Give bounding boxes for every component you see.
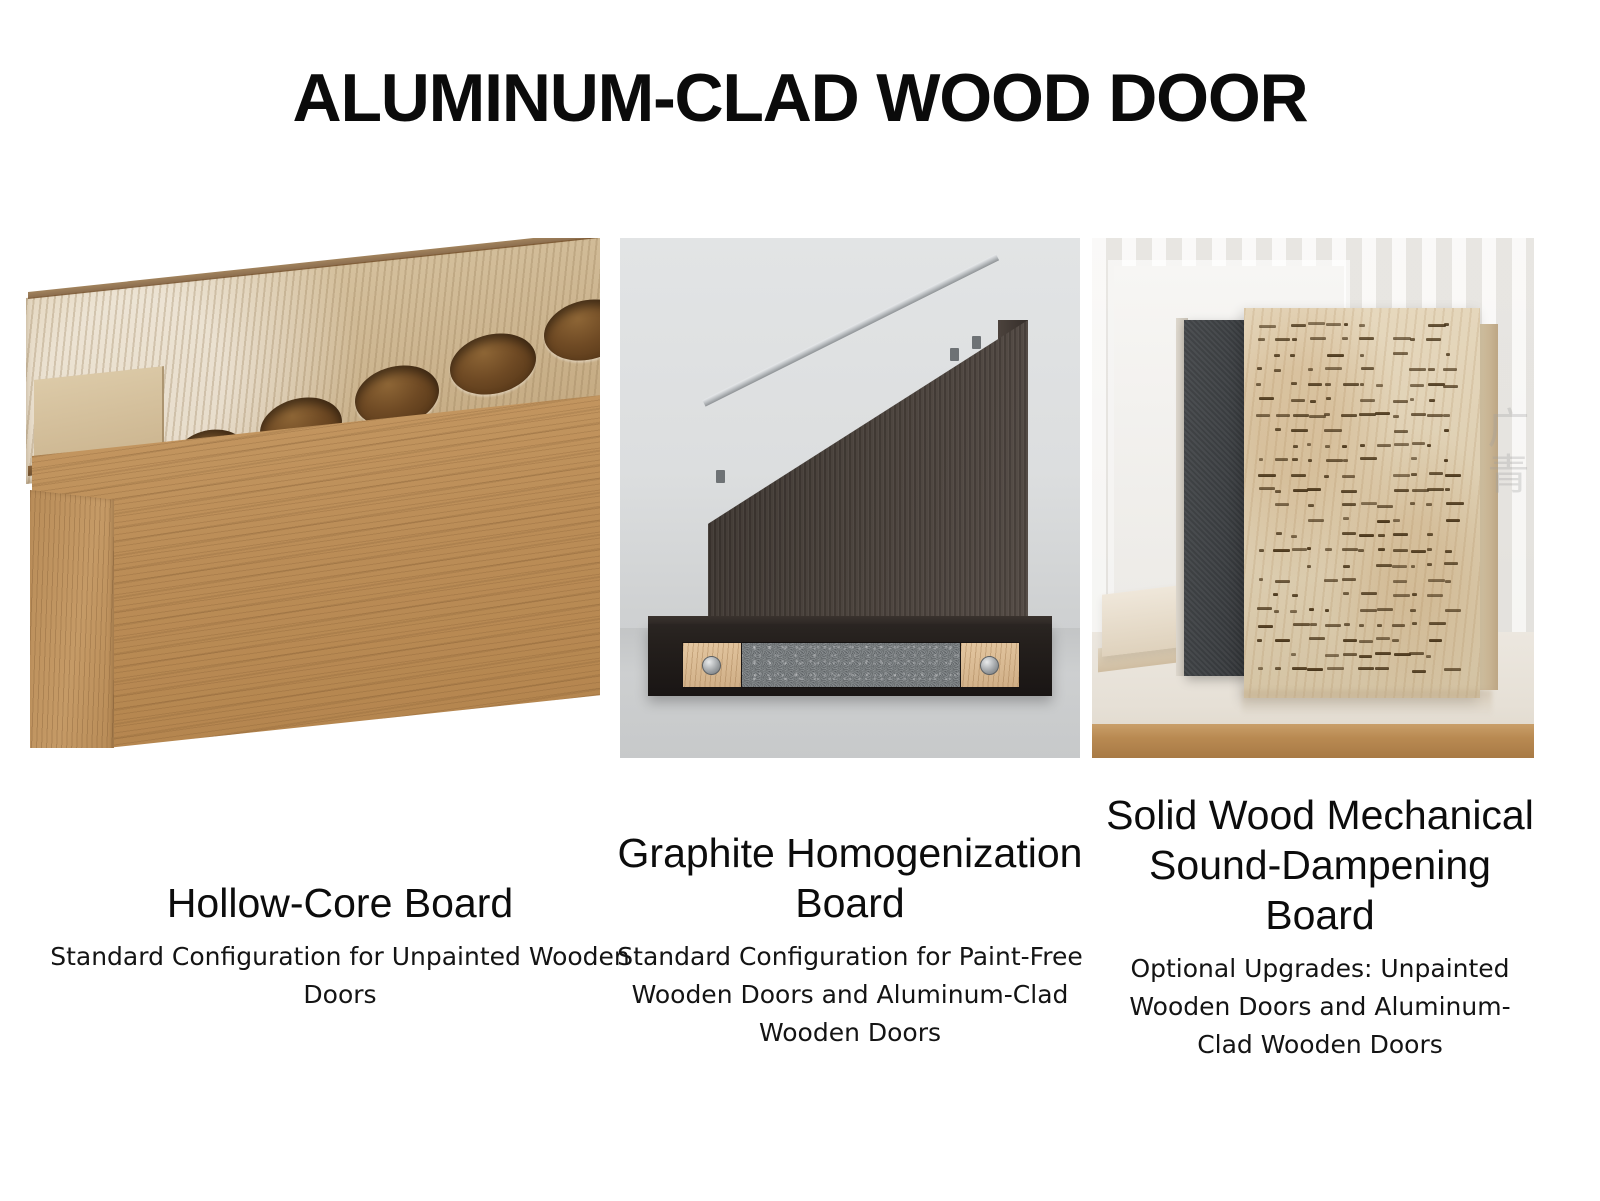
acoustic-slot: [1427, 548, 1432, 551]
slotted-solid-wood-panel: [1244, 308, 1480, 698]
acoustic-slot: [1411, 457, 1417, 460]
acoustic-slot: [1360, 354, 1364, 357]
acoustic-slot: [1411, 565, 1415, 568]
acoustic-slot: [1342, 475, 1355, 478]
acoustic-slot: [1310, 337, 1326, 340]
acoustic-slot: [1359, 640, 1373, 643]
acoustic-slot: [1276, 414, 1290, 417]
acoustic-slot: [1274, 610, 1279, 613]
acoustic-slot: [1308, 322, 1325, 325]
acoustic-slot: [1291, 399, 1305, 402]
acoustic-slot: [1361, 592, 1377, 595]
acoustic-slot: [1291, 535, 1297, 538]
acoustic-slot: [1341, 414, 1357, 417]
acoustic-slot: [1427, 488, 1444, 491]
acoustic-slot: [1257, 639, 1262, 642]
hollow-core-board-image: [22, 238, 600, 748]
acoustic-slot: [1409, 368, 1426, 371]
acoustic-slot: [1341, 490, 1357, 493]
aluminum-clip: [950, 348, 959, 361]
acoustic-slot: [1426, 503, 1432, 506]
acoustic-slot: [1308, 368, 1313, 371]
acoustic-slot: [1324, 475, 1329, 478]
acoustic-slot: [1342, 532, 1356, 535]
acoustic-slot: [1411, 473, 1417, 476]
acoustic-slot: [1258, 667, 1263, 670]
acoustic-slot: [1343, 383, 1359, 386]
acoustic-slot: [1445, 474, 1461, 477]
acoustic-slot: [1327, 354, 1344, 357]
acoustic-slot: [1343, 592, 1349, 595]
acoustic-slot: [1259, 549, 1264, 552]
acoustic-slot: [1291, 474, 1306, 477]
acoustic-slot: [1410, 398, 1414, 401]
acoustic-slot: [1429, 639, 1442, 642]
acoustic-slot: [1426, 655, 1431, 658]
acoustic-slot: [1310, 623, 1317, 626]
acoustic-slot: [1394, 430, 1408, 433]
acoustic-slot: [1392, 565, 1407, 568]
acoustic-slot: [1393, 400, 1408, 403]
acoustic-slot: [1446, 519, 1460, 522]
acoustic-slot: [1292, 548, 1307, 551]
acoustic-slot: [1426, 338, 1441, 341]
acoustic-slot: [1427, 414, 1443, 417]
acoustic-slot: [1293, 623, 1310, 626]
acoustic-slot: [1375, 667, 1389, 670]
acoustic-slot: [1256, 383, 1261, 386]
acoustic-slot: [1273, 593, 1278, 596]
acoustic-slot: [1326, 397, 1331, 400]
acoustic-slot: [1410, 502, 1415, 505]
acoustic-slot: [1445, 580, 1451, 583]
acoustic-slot: [1290, 610, 1297, 613]
acoustic-slot: [1358, 667, 1374, 670]
acoustic-slot: [1427, 444, 1431, 447]
acoustic-slot: [1443, 385, 1458, 388]
acoustic-slot: [1291, 653, 1296, 656]
aluminum-clip: [972, 336, 981, 349]
acoustic-slot: [1375, 652, 1391, 655]
acoustic-slot: [1292, 594, 1298, 597]
acoustic-slot: [1275, 490, 1281, 493]
wood-panel-side-edge: [1480, 324, 1498, 690]
acoustic-slot: [1343, 639, 1357, 642]
acoustic-slot: [1445, 609, 1461, 612]
caption-subtitle: Optional Upgrades: Unpainted Wooden Door…: [1105, 950, 1535, 1064]
acoustic-slot: [1393, 549, 1408, 552]
caption-row: Hollow-Core Board Standard Configuration…: [0, 790, 1600, 1130]
acoustic-slot: [1325, 383, 1331, 386]
acoustic-slot: [1429, 622, 1446, 625]
acoustic-slot: [1325, 367, 1342, 370]
acoustic-slot: [1273, 549, 1290, 552]
acoustic-slot: [1308, 383, 1322, 386]
acoustic-slot: [1361, 502, 1377, 505]
acoustic-slot: [1377, 505, 1393, 508]
acoustic-slot: [1344, 623, 1350, 626]
table-reflection: [1242, 690, 1492, 716]
acoustic-slot: [1429, 472, 1443, 475]
acoustic-slot: [1293, 414, 1309, 417]
acoustic-slot: [1360, 399, 1375, 402]
acoustic-slot: [1444, 429, 1449, 432]
acoustic-slot: [1307, 547, 1311, 550]
acoustic-slot: [1292, 667, 1307, 670]
acoustic-slot: [1393, 337, 1411, 340]
acoustic-slot: [1325, 445, 1330, 448]
acoustic-slot: [1392, 624, 1405, 627]
acoustic-slot: [1342, 503, 1356, 506]
acoustic-slot: [1443, 368, 1457, 371]
acoustic-slot: [1428, 368, 1435, 371]
acoustic-slot: [1427, 594, 1443, 597]
acoustic-slot: [1274, 354, 1280, 357]
acoustic-slot: [1412, 622, 1417, 625]
acoustic-slot: [1276, 532, 1282, 535]
caption-solid-wood-board: Solid Wood Mechanical Sound-Dampening Bo…: [1105, 790, 1535, 1064]
acoustic-slot: [1412, 442, 1425, 445]
acoustic-slot: [1444, 562, 1458, 565]
acoustic-slot: [1325, 548, 1332, 551]
acoustic-slot: [1376, 384, 1383, 387]
watermark-text: 广青: [1482, 406, 1528, 498]
acoustic-slot: [1361, 367, 1374, 370]
acoustic-slot: [1342, 548, 1358, 551]
acoustic-slot: [1324, 413, 1330, 416]
acoustic-slot: [1393, 594, 1410, 597]
acoustic-slot: [1412, 670, 1426, 673]
acoustic-slot: [1309, 608, 1314, 611]
acoustic-slot: [1443, 414, 1450, 417]
acoustic-slot: [1360, 457, 1377, 460]
acoustic-slot: [1275, 428, 1281, 431]
acoustic-slot: [1292, 458, 1298, 461]
acoustic-slot: [1308, 459, 1312, 462]
acoustic-slot: [1445, 550, 1452, 553]
acoustic-slot: [1393, 580, 1407, 583]
caption-title: Solid Wood Mechanical Sound-Dampening Bo…: [1105, 790, 1535, 940]
acoustic-slot: [1394, 489, 1409, 492]
acoustic-slot: [1410, 609, 1416, 612]
acoustic-slot: [1446, 353, 1450, 356]
acoustic-slot: [1259, 578, 1263, 581]
acoustic-slot: [1444, 459, 1448, 462]
acoustic-slot: [1275, 338, 1290, 341]
acoustic-slot: [1307, 668, 1323, 671]
product-image-row: 广青: [0, 238, 1600, 760]
acoustic-slot: [1259, 397, 1274, 400]
metal-pin: [702, 656, 721, 675]
acoustic-slot: [1256, 414, 1270, 417]
metal-pin: [980, 656, 999, 675]
acoustic-slot: [1259, 325, 1276, 328]
acoustic-slot: [1394, 443, 1409, 446]
acoustic-slot: [1429, 399, 1435, 402]
acoustic-slot: [1307, 565, 1311, 568]
acoustic-slot: [1327, 667, 1344, 670]
acoustic-slot: [1378, 548, 1385, 551]
acoustic-slot: [1360, 609, 1377, 612]
acoustic-slot: [1258, 625, 1273, 628]
acoustic-slot: [1377, 624, 1382, 627]
acoustic-slot: [1411, 550, 1426, 553]
acoustic-slot: [1274, 369, 1281, 372]
acoustic-slot: [1326, 459, 1343, 462]
wood-grain-side-face: [30, 490, 114, 748]
graphite-photo-stage: [620, 238, 1080, 758]
acoustic-slot: [1257, 607, 1272, 610]
acoustic-slot: [1324, 429, 1342, 432]
acoustic-slot: [1325, 654, 1339, 657]
acoustic-slot: [1410, 384, 1424, 387]
acoustic-slot: [1308, 504, 1314, 507]
acoustic-slot: [1307, 443, 1311, 446]
acoustic-slot: [1427, 563, 1432, 566]
caption-subtitle: Standard Configuration for Unpainted Woo…: [50, 938, 630, 1014]
acoustic-slot: [1393, 352, 1408, 355]
acoustic-slot: [1360, 383, 1364, 386]
acoustic-slot: [1375, 412, 1390, 415]
acoustic-slot: [1291, 429, 1308, 432]
acoustic-slot: [1359, 324, 1365, 327]
acoustic-slot: [1257, 367, 1262, 370]
acoustic-slot: [1359, 624, 1364, 627]
acoustic-slot: [1343, 653, 1357, 656]
acoustic-slot: [1393, 474, 1410, 477]
page-title: ALUMINUM-CLAD WOOD DOOR: [0, 58, 1600, 138]
acoustic-slot: [1360, 444, 1365, 447]
acoustic-slot: [1342, 578, 1356, 581]
acoustic-slot: [1326, 323, 1341, 326]
acoustic-slot: [1378, 534, 1385, 537]
acoustic-slot: [1275, 639, 1290, 642]
acoustic-slot: [1427, 533, 1433, 536]
acoustic-slot: [1411, 413, 1426, 416]
acoustic-slot: [1291, 324, 1306, 327]
caption-hollow-core-board: Hollow-Core Board Standard Configuration…: [50, 878, 630, 1014]
acoustic-slot: [1343, 517, 1349, 520]
acoustic-slot: [1293, 445, 1298, 448]
acoustic-slot: [1377, 520, 1390, 523]
acoustic-slot: [1376, 564, 1392, 567]
acoustic-slot: [1445, 488, 1450, 491]
graphite-homogenization-board-image: [620, 238, 1080, 758]
solid-wood-photo-stage: 广青: [1092, 238, 1534, 758]
acoustic-slot: [1359, 337, 1374, 340]
acoustic-slot: [1359, 655, 1372, 658]
acoustic-slot: [1377, 608, 1393, 611]
acoustic-slot: [1259, 487, 1275, 490]
caption-graphite-homogenization-board: Graphite Homogenization Board Standard C…: [600, 828, 1100, 1052]
acoustic-slot: [1308, 519, 1324, 522]
acoustic-slot: [1428, 579, 1445, 582]
acoustic-slot: [1444, 668, 1461, 671]
acoustic-slot: [1343, 565, 1350, 568]
acoustic-slot: [1275, 580, 1290, 583]
caption-title: Hollow-Core Board: [50, 878, 630, 928]
caption-title: Graphite Homogenization Board: [600, 828, 1100, 928]
acoustic-slot: [1259, 458, 1263, 461]
acoustic-slot: [1325, 609, 1329, 612]
acoustic-slot: [1310, 400, 1316, 403]
acoustic-slot: [1359, 534, 1374, 537]
aluminum-clip: [716, 470, 725, 483]
wood-grain-front-face: [32, 394, 600, 748]
acoustic-slot: [1393, 415, 1399, 418]
acoustic-slot: [1342, 445, 1347, 448]
acoustic-slot: [1393, 519, 1400, 522]
solid-wood-sound-dampening-board-image: 广青: [1092, 238, 1534, 758]
acoustic-slot: [1393, 533, 1408, 536]
acoustic-slot: [1392, 639, 1399, 642]
acoustic-slot: [1291, 382, 1297, 385]
acoustic-slot: [1258, 474, 1276, 477]
acoustic-slot: [1290, 354, 1295, 357]
acoustic-slot: [1376, 637, 1390, 640]
caption-subtitle: Standard Configuration for Paint-Free Wo…: [600, 938, 1100, 1052]
table-edge: [1092, 724, 1534, 758]
acoustic-slot: [1293, 489, 1308, 492]
acoustic-slot: [1412, 593, 1417, 596]
acoustic-slot: [1410, 338, 1415, 341]
acoustic-slot: [1258, 338, 1265, 341]
acoustic-slot: [1409, 652, 1424, 655]
acoustic-slot: [1324, 579, 1338, 582]
acoustic-slot: [1309, 637, 1325, 640]
acoustic-slot: [1325, 624, 1341, 627]
acoustic-slot: [1307, 488, 1321, 491]
acoustic-slot: [1358, 549, 1364, 552]
acoustic-slot: [1344, 323, 1348, 326]
acoustic-slot: [1343, 459, 1348, 462]
hollow-core-photo-stage: [22, 238, 600, 748]
acoustic-slot: [1444, 323, 1449, 326]
acoustic-slot: [1377, 444, 1391, 447]
acoustic-slot: [1359, 413, 1376, 416]
acoustic-slot: [1446, 502, 1464, 505]
acoustic-slot: [1292, 338, 1297, 341]
acoustic-slot: [1275, 458, 1288, 461]
acoustic-slot: [1342, 337, 1348, 340]
charcoal-acoustic-panel: [1184, 320, 1246, 676]
acoustic-slot: [1275, 667, 1281, 670]
acoustic-slot: [1275, 503, 1289, 506]
